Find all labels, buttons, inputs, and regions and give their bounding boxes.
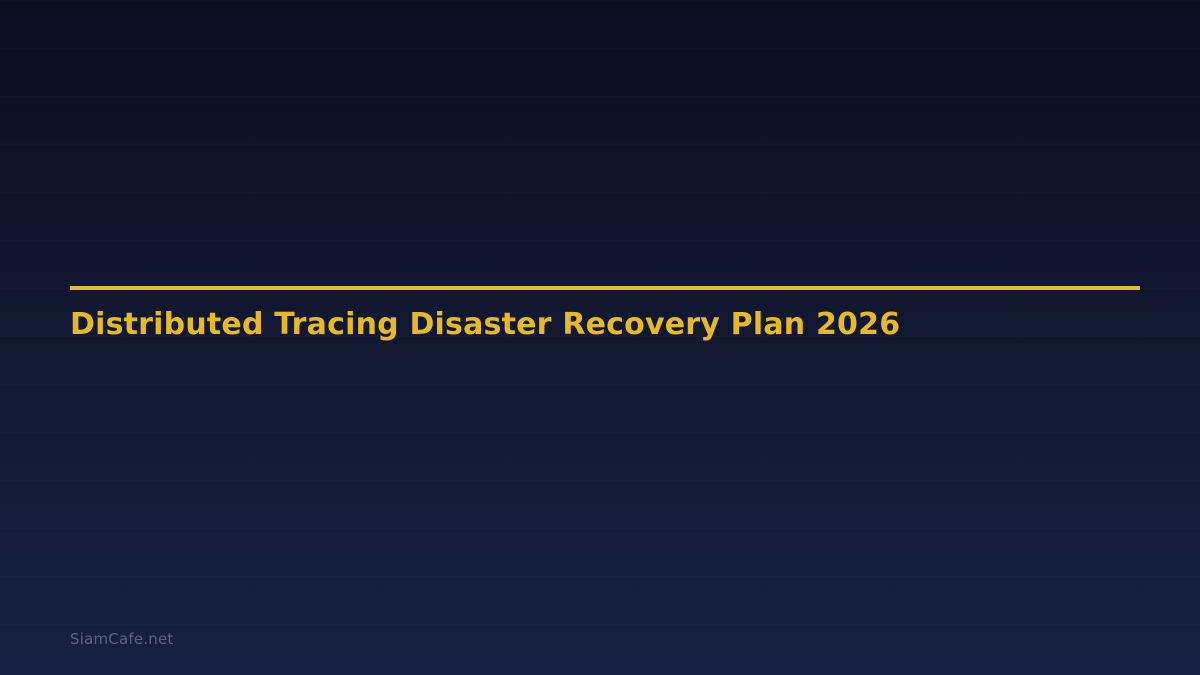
footer-branding: SiamCafe.net <box>70 630 173 648</box>
title-block: Distributed Tracing Disaster Recovery Pl… <box>70 286 1140 343</box>
title-slide: Distributed Tracing Disaster Recovery Pl… <box>0 0 1200 675</box>
page-title: Distributed Tracing Disaster Recovery Pl… <box>70 290 1140 343</box>
